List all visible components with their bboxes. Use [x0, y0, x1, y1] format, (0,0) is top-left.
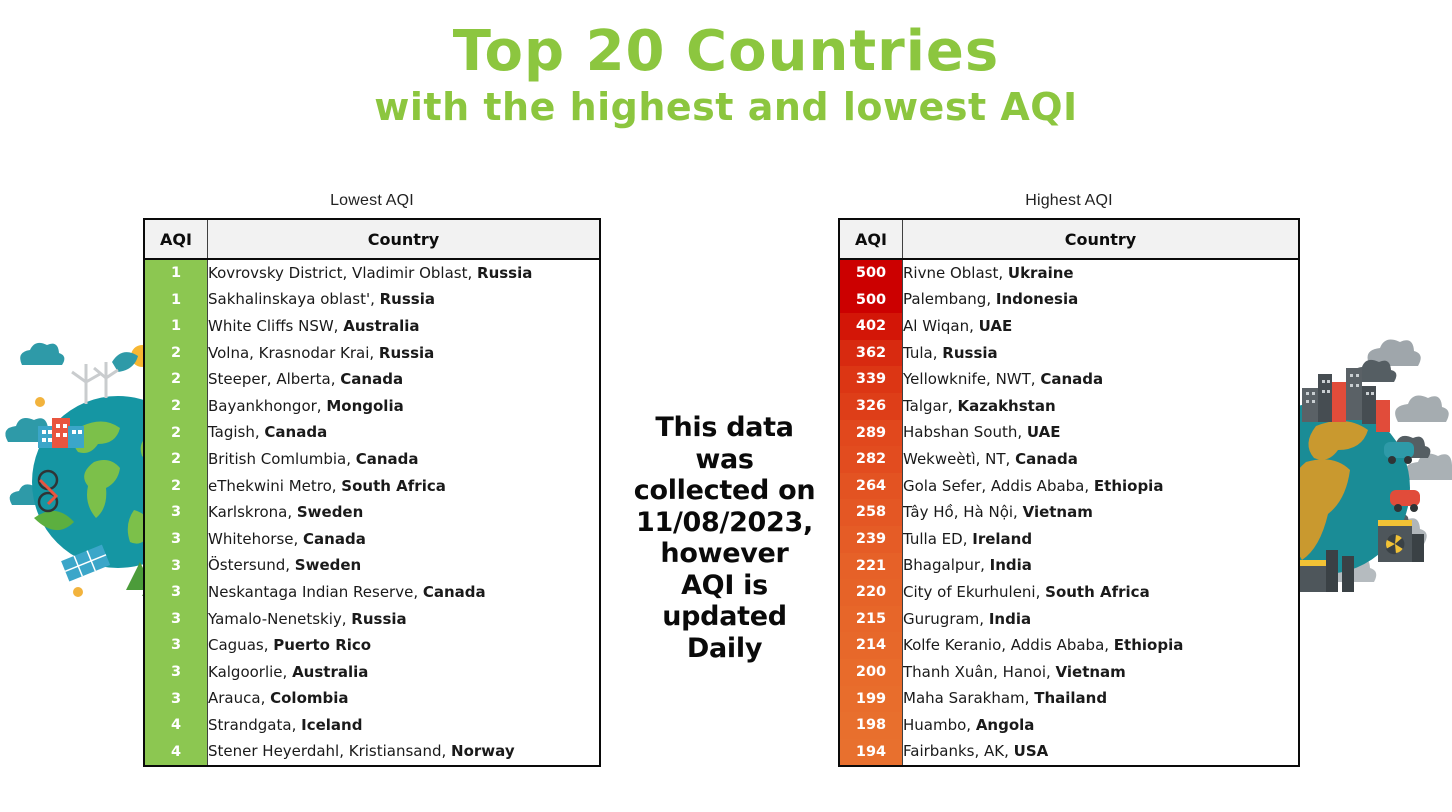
table-row: 2Bayankhongor, Mongolia [144, 393, 600, 420]
location-cell: Yellowknife, NWT, Canada [903, 366, 1300, 393]
location-cell: Steeper, Alberta, Canada [208, 366, 601, 393]
data-collection-note: This datawascollected on11/08/2023,howev… [622, 412, 827, 665]
country-name: Iceland [301, 716, 362, 734]
location-name: Whitehorse, [208, 530, 303, 548]
note-line: Daily [622, 633, 827, 665]
country-name: Norway [451, 742, 515, 760]
location-name: Caguas, [208, 636, 273, 654]
aqi-value-cell: 220 [839, 579, 903, 606]
country-name: Canada [264, 423, 327, 441]
note-line: 11/08/2023, [622, 507, 827, 539]
lowest-aqi-panel: Lowest AQI AQI Country 1Kovrovsky Distri… [143, 192, 601, 767]
location-name: Karlskrona, [208, 503, 297, 521]
aqi-value-cell: 3 [144, 579, 208, 606]
highest-aqi-caption: Highest AQI [838, 192, 1300, 210]
aqi-value-cell: 199 [839, 686, 903, 713]
table-row: 289Habshan South, UAE [839, 420, 1299, 447]
table-row: 199Maha Sarakham, Thailand [839, 686, 1299, 713]
aqi-value-cell: 258 [839, 499, 903, 526]
country-name: Canada [423, 583, 486, 601]
note-line: however [622, 538, 827, 570]
location-name: British Comlumbia, [208, 450, 356, 468]
aqi-value-cell: 3 [144, 606, 208, 633]
location-cell: Fairbanks, AK, USA [903, 739, 1300, 767]
table-row: 339Yellowknife, NWT, Canada [839, 366, 1299, 393]
country-name: India [989, 610, 1031, 628]
aqi-value-cell: 215 [839, 606, 903, 633]
country-name: Russia [351, 610, 406, 628]
country-name: Vietnam [1023, 503, 1093, 521]
country-name: Vietnam [1056, 663, 1126, 681]
title-sub-line: with the highest and lowest AQI [0, 86, 1452, 130]
aqi-value-cell: 326 [839, 393, 903, 420]
table-row: 220City of Ekurhuleni, South Africa [839, 579, 1299, 606]
location-cell: Huambo, Angola [903, 712, 1300, 739]
aqi-value-cell: 402 [839, 313, 903, 340]
location-name: Rivne Oblast, [903, 264, 1008, 282]
location-name: Arauca, [208, 689, 270, 707]
column-header-country: Country [208, 219, 601, 259]
location-cell: Bhagalpur, India [903, 553, 1300, 580]
location-name: Huambo, [903, 716, 976, 734]
country-name: Puerto Rico [273, 636, 371, 654]
location-name: Fairbanks, AK, [903, 742, 1014, 760]
country-name: Russia [380, 290, 435, 308]
aqi-value-cell: 282 [839, 446, 903, 473]
aqi-value-cell: 3 [144, 632, 208, 659]
table-row: 264Gola Sefer, Addis Ababa, Ethiopia [839, 473, 1299, 500]
aqi-value-cell: 1 [144, 259, 208, 287]
country-name: India [990, 556, 1032, 574]
table-row: 500Rivne Oblast, Ukraine [839, 259, 1299, 287]
aqi-value-cell: 3 [144, 659, 208, 686]
table-row: 258Tây Hồ, Hà Nội, Vietnam [839, 499, 1299, 526]
aqi-value-cell: 239 [839, 526, 903, 553]
location-cell: Kolfe Keranio, Addis Ababa, Ethiopia [903, 632, 1300, 659]
country-name: Ukraine [1008, 264, 1074, 282]
lowest-aqi-caption: Lowest AQI [143, 192, 601, 210]
country-name: Ethiopia [1114, 636, 1184, 654]
location-cell: Sakhalinskaya oblast', Russia [208, 287, 601, 314]
aqi-value-cell: 4 [144, 739, 208, 767]
location-name: Habshan South, [903, 423, 1027, 441]
aqi-value-cell: 2 [144, 340, 208, 367]
location-cell: Whitehorse, Canada [208, 526, 601, 553]
country-name: UAE [1027, 423, 1061, 441]
country-name: Australia [343, 317, 419, 335]
location-cell: Östersund, Sweden [208, 553, 601, 580]
table-row: 239Tulla ED, Ireland [839, 526, 1299, 553]
country-name: Russia [379, 344, 434, 362]
note-line: was [622, 444, 827, 476]
location-name: City of Ekurhuleni, [903, 583, 1045, 601]
country-name: UAE [979, 317, 1013, 335]
table-row: 3Östersund, Sweden [144, 553, 600, 580]
country-name: Mongolia [326, 397, 403, 415]
note-line: AQI is [622, 570, 827, 602]
location-name: Neskantaga Indian Reserve, [208, 583, 423, 601]
location-name: Kovrovsky District, Vladimir Oblast, [208, 264, 477, 282]
column-header-aqi: AQI [144, 219, 208, 259]
aqi-value-cell: 2 [144, 393, 208, 420]
location-cell: Kalgoorlie, Australia [208, 659, 601, 686]
table-row: 214Kolfe Keranio, Addis Ababa, Ethiopia [839, 632, 1299, 659]
table-row: 2Tagish, Canada [144, 420, 600, 447]
country-name: Russia [942, 344, 997, 362]
country-name: Canada [340, 370, 403, 388]
aqi-value-cell: 2 [144, 473, 208, 500]
location-name: Strandgata, [208, 716, 301, 734]
table-row: 1Kovrovsky District, Vladimir Oblast, Ru… [144, 259, 600, 287]
aqi-value-cell: 3 [144, 553, 208, 580]
table-row: 198Huambo, Angola [839, 712, 1299, 739]
location-cell: White Cliffs NSW, Australia [208, 313, 601, 340]
title-main-line: Top 20 Countries [0, 22, 1452, 82]
location-cell: Thanh Xuân, Hanoi, Vietnam [903, 659, 1300, 686]
country-name: Sweden [295, 556, 361, 574]
location-name: Tulla ED, [903, 530, 972, 548]
location-name: Kolfe Keranio, Addis Ababa, [903, 636, 1114, 654]
country-name: Thailand [1034, 689, 1107, 707]
location-cell: Palembang, Indonesia [903, 287, 1300, 314]
location-cell: Arauca, Colombia [208, 686, 601, 713]
country-name: Colombia [270, 689, 348, 707]
table-row: 200Thanh Xuân, Hanoi, Vietnam [839, 659, 1299, 686]
location-cell: Tulla ED, Ireland [903, 526, 1300, 553]
aqi-value-cell: 2 [144, 420, 208, 447]
country-name: South Africa [341, 477, 446, 495]
country-name: USA [1014, 742, 1049, 760]
location-cell: Wekweètì, NT, Canada [903, 446, 1300, 473]
location-cell: Strandgata, Iceland [208, 712, 601, 739]
aqi-value-cell: 200 [839, 659, 903, 686]
aqi-value-cell: 264 [839, 473, 903, 500]
location-cell: Al Wiqan, UAE [903, 313, 1300, 340]
aqi-value-cell: 194 [839, 739, 903, 767]
location-cell: Gurugram, India [903, 606, 1300, 633]
location-name: Tula, [903, 344, 942, 362]
location-cell: eThekwini Metro, South Africa [208, 473, 601, 500]
location-cell: Kovrovsky District, Vladimir Oblast, Rus… [208, 259, 601, 287]
table-row: 221Bhagalpur, India [839, 553, 1299, 580]
location-name: Thanh Xuân, Hanoi, [903, 663, 1056, 681]
aqi-value-cell: 4 [144, 712, 208, 739]
location-name: Bhagalpur, [903, 556, 990, 574]
location-name: Tagish, [208, 423, 264, 441]
column-header-aqi: AQI [839, 219, 903, 259]
aqi-value-cell: 1 [144, 287, 208, 314]
table-row: 3Arauca, Colombia [144, 686, 600, 713]
column-header-country: Country [903, 219, 1300, 259]
country-name: Australia [292, 663, 368, 681]
location-cell: British Comlumbia, Canada [208, 446, 601, 473]
table-row: 3Neskantaga Indian Reserve, Canada [144, 579, 600, 606]
page-title: Top 20 Countries with the highest and lo… [0, 22, 1452, 130]
aqi-value-cell: 221 [839, 553, 903, 580]
aqi-value-cell: 289 [839, 420, 903, 447]
location-name: Maha Sarakham, [903, 689, 1034, 707]
location-cell: Volna, Krasnodar Krai, Russia [208, 340, 601, 367]
location-cell: Yamalo-Nenetskiy, Russia [208, 606, 601, 633]
location-name: Tây Hồ, Hà Nội, [903, 503, 1023, 521]
aqi-value-cell: 3 [144, 499, 208, 526]
lowest-aqi-table: AQI Country 1Kovrovsky District, Vladimi… [143, 218, 601, 767]
location-cell: City of Ekurhuleni, South Africa [903, 579, 1300, 606]
location-name: Al Wiqan, [903, 317, 979, 335]
location-name: Palembang, [903, 290, 996, 308]
location-cell: Habshan South, UAE [903, 420, 1300, 447]
table-row: 362Tula, Russia [839, 340, 1299, 367]
aqi-value-cell: 500 [839, 287, 903, 314]
country-name: Ethiopia [1094, 477, 1164, 495]
table-row: 2Volna, Krasnodar Krai, Russia [144, 340, 600, 367]
location-name: Steeper, Alberta, [208, 370, 340, 388]
note-line: updated [622, 601, 827, 633]
location-cell: Stener Heyerdahl, Kristiansand, Norway [208, 739, 601, 767]
aqi-value-cell: 3 [144, 686, 208, 713]
table-row: 194Fairbanks, AK, USA [839, 739, 1299, 767]
table-header-row: AQI Country [144, 219, 600, 259]
aqi-value-cell: 2 [144, 366, 208, 393]
table-row: 3Whitehorse, Canada [144, 526, 600, 553]
location-cell: Rivne Oblast, Ukraine [903, 259, 1300, 287]
table-row: 2British Comlumbia, Canada [144, 446, 600, 473]
location-name: Yellowknife, NWT, [903, 370, 1040, 388]
location-name: Wekweètì, NT, [903, 450, 1015, 468]
table-header-row: AQI Country [839, 219, 1299, 259]
table-row: 3Karlskrona, Sweden [144, 499, 600, 526]
country-name: Russia [477, 264, 532, 282]
country-name: Kazakhstan [957, 397, 1055, 415]
location-name: White Cliffs NSW, [208, 317, 343, 335]
location-cell: Maha Sarakham, Thailand [903, 686, 1300, 713]
aqi-value-cell: 3 [144, 526, 208, 553]
country-name: Canada [356, 450, 419, 468]
location-cell: Gola Sefer, Addis Ababa, Ethiopia [903, 473, 1300, 500]
location-name: Bayankhongor, [208, 397, 326, 415]
location-name: Gurugram, [903, 610, 989, 628]
location-name: Östersund, [208, 556, 295, 574]
aqi-value-cell: 214 [839, 632, 903, 659]
aqi-value-cell: 362 [839, 340, 903, 367]
location-cell: Bayankhongor, Mongolia [208, 393, 601, 420]
country-name: Indonesia [996, 290, 1078, 308]
country-name: South Africa [1045, 583, 1150, 601]
table-row: 2Steeper, Alberta, Canada [144, 366, 600, 393]
note-line: collected on [622, 475, 827, 507]
aqi-value-cell: 2 [144, 446, 208, 473]
country-name: Ireland [972, 530, 1032, 548]
highest-aqi-table: AQI Country 500Rivne Oblast, Ukraine500P… [838, 218, 1300, 767]
location-cell: Tây Hồ, Hà Nội, Vietnam [903, 499, 1300, 526]
country-name: Canada [1015, 450, 1078, 468]
table-row: 500Palembang, Indonesia [839, 287, 1299, 314]
location-name: Stener Heyerdahl, Kristiansand, [208, 742, 451, 760]
highest-aqi-panel: Highest AQI AQI Country 500Rivne Oblast,… [838, 192, 1300, 767]
aqi-value-cell: 339 [839, 366, 903, 393]
table-row: 4Strandgata, Iceland [144, 712, 600, 739]
table-row: 282Wekweètì, NT, Canada [839, 446, 1299, 473]
table-row: 2eThekwini Metro, South Africa [144, 473, 600, 500]
country-name: Canada [303, 530, 366, 548]
location-name: eThekwini Metro, [208, 477, 341, 495]
location-name: Yamalo-Nenetskiy, [208, 610, 351, 628]
table-row: 3Caguas, Puerto Rico [144, 632, 600, 659]
country-name: Sweden [297, 503, 363, 521]
aqi-value-cell: 198 [839, 712, 903, 739]
table-row: 1Sakhalinskaya oblast', Russia [144, 287, 600, 314]
table-row: 4Stener Heyerdahl, Kristiansand, Norway [144, 739, 600, 767]
location-cell: Neskantaga Indian Reserve, Canada [208, 579, 601, 606]
location-name: Gola Sefer, Addis Ababa, [903, 477, 1094, 495]
country-name: Angola [976, 716, 1035, 734]
aqi-value-cell: 1 [144, 313, 208, 340]
table-row: 215Gurugram, India [839, 606, 1299, 633]
location-cell: Tula, Russia [903, 340, 1300, 367]
aqi-value-cell: 500 [839, 259, 903, 287]
location-name: Kalgoorlie, [208, 663, 292, 681]
location-cell: Caguas, Puerto Rico [208, 632, 601, 659]
table-row: 3Yamalo-Nenetskiy, Russia [144, 606, 600, 633]
location-name: Sakhalinskaya oblast', [208, 290, 380, 308]
location-cell: Talgar, Kazakhstan [903, 393, 1300, 420]
note-line: This data [622, 412, 827, 444]
table-row: 326Talgar, Kazakhstan [839, 393, 1299, 420]
table-row: 3Kalgoorlie, Australia [144, 659, 600, 686]
location-name: Talgar, [903, 397, 957, 415]
table-row: 402Al Wiqan, UAE [839, 313, 1299, 340]
location-name: Volna, Krasnodar Krai, [208, 344, 379, 362]
table-row: 1White Cliffs NSW, Australia [144, 313, 600, 340]
location-cell: Tagish, Canada [208, 420, 601, 447]
country-name: Canada [1040, 370, 1103, 388]
location-cell: Karlskrona, Sweden [208, 499, 601, 526]
